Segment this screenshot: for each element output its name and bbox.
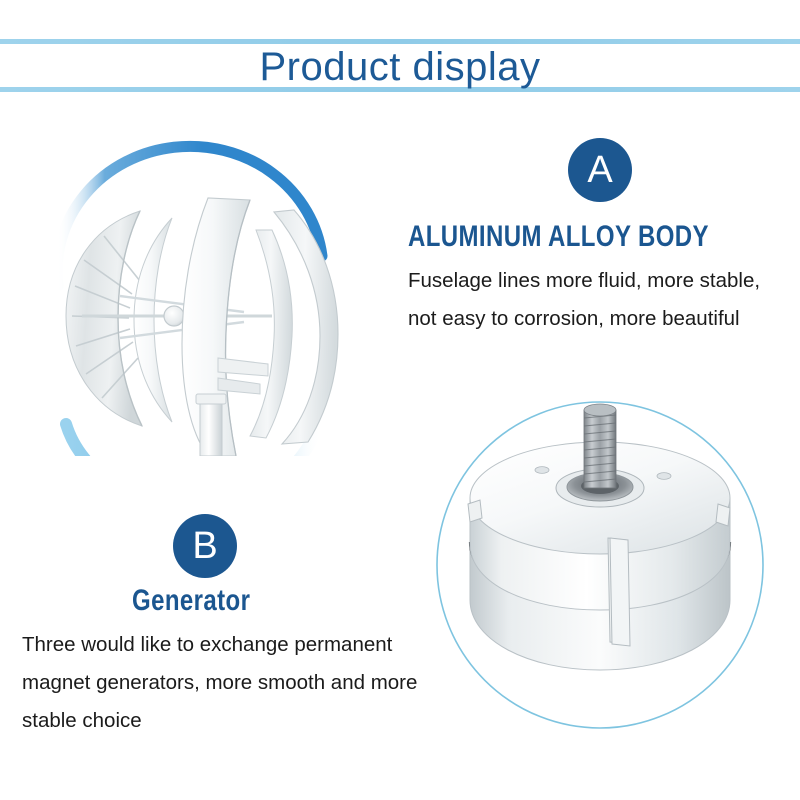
turbine-blade-left xyxy=(66,211,142,426)
section-b: Generator Three would like to exchange p… xyxy=(22,586,442,740)
turbine-mast xyxy=(196,394,226,456)
badge-b: B xyxy=(173,514,237,578)
turbine-illustration xyxy=(22,126,342,456)
generator-illustration xyxy=(432,392,772,737)
section-b-line-3: stable choice xyxy=(22,702,442,740)
generator-product-image xyxy=(432,392,772,737)
product-display-page: Product display xyxy=(0,0,800,800)
section-b-body: Three would like to exchange permanent m… xyxy=(22,626,442,740)
generator-shaft xyxy=(584,404,616,488)
turbine-product-image xyxy=(22,126,342,456)
section-a-body: Fuselage lines more fluid, more stable, … xyxy=(408,262,794,338)
section-b-line-2: magnet generators, more smooth and more xyxy=(22,664,442,702)
section-a: ALUMINUM ALLOY BODY Fuselage lines more … xyxy=(408,222,794,338)
section-b-line-1: Three would like to exchange permanent xyxy=(22,626,442,664)
section-b-heading: Generator xyxy=(132,586,380,616)
turbine-blade-inner-right xyxy=(250,230,292,438)
badge-a: A xyxy=(568,138,632,202)
section-a-line-1: Fuselage lines more fluid, more stable, xyxy=(408,262,794,300)
generator-front-rib xyxy=(610,538,630,646)
page-header: Product display xyxy=(0,30,800,100)
section-a-heading: ALUMINUM ALLOY BODY xyxy=(408,222,717,252)
section-a-line-2: not easy to corrosion, more beautiful xyxy=(408,300,794,338)
page-title: Product display xyxy=(0,44,800,90)
